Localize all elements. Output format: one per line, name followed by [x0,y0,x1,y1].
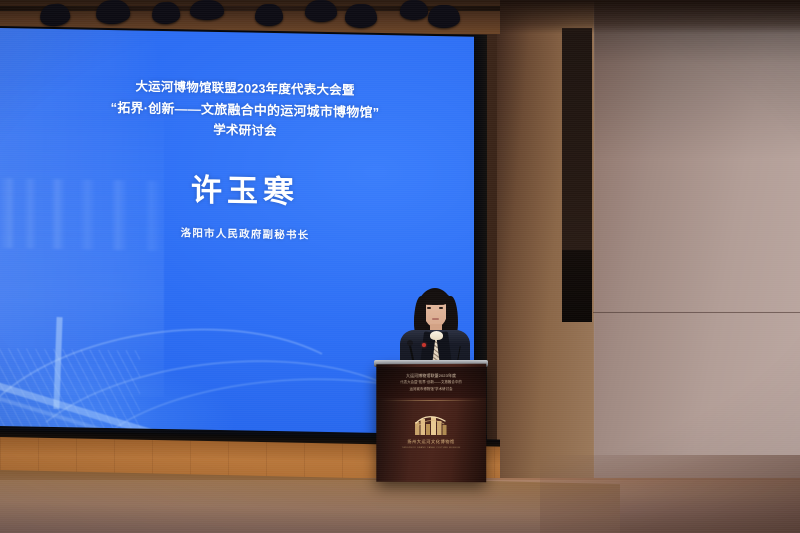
scarf-knot [430,331,443,340]
screen-text-block: 大运河博物馆联盟2023年度代表大会暨 “拓界·创新——文旅融合中的运河城市博物… [90,76,400,245]
museum-logo-subtext: YANGZHOU GRAND CANAL CULTURE MUSEUM [402,446,460,448]
mouth [432,318,439,320]
conference-stage-scene: 大运河博物馆联盟2023年度代表大会暨 “拓界·创新——文旅融合中的运河城市博物… [0,0,800,533]
track-light-icon [345,4,377,28]
track-light-icon [190,0,224,20]
lapel-badge-icon [422,343,426,347]
podium-banner-line-3: 运河城市博物馆”学术研讨会 [409,386,452,392]
wall-top-shadow [497,0,800,34]
track-light-icon [400,0,428,20]
floor-corner-shadow [540,455,800,533]
wall-seam-horizontal [593,312,800,313]
track-light-icon [305,0,337,22]
podium-divider [380,400,482,401]
podium: 大运河博物馆联盟2023年度 代表大会暨“拓界·创新——文旅融合中的 运河城市博… [376,364,486,483]
museum-logo-text: 扬州大运河文化博物馆 [407,439,454,445]
eye-right [439,307,443,309]
track-light-icon [428,5,460,28]
doorway-shadow [562,250,592,322]
speaker-name: 许玉寒 [90,171,400,213]
museum-building-logo-icon [413,414,449,436]
microphone-icon [407,340,413,346]
wall-seam-vertical [593,0,595,520]
eye-left [427,307,431,309]
podium-banner: 大运河博物馆联盟2023年度 代表大会暨“拓界·创新——文旅融合中的 运河城市博… [376,367,486,398]
museum-logo: 扬州大运河文化博物馆 YANGZHOU GRAND CANAL CULTURE … [376,414,486,449]
track-light-icon [255,4,283,26]
